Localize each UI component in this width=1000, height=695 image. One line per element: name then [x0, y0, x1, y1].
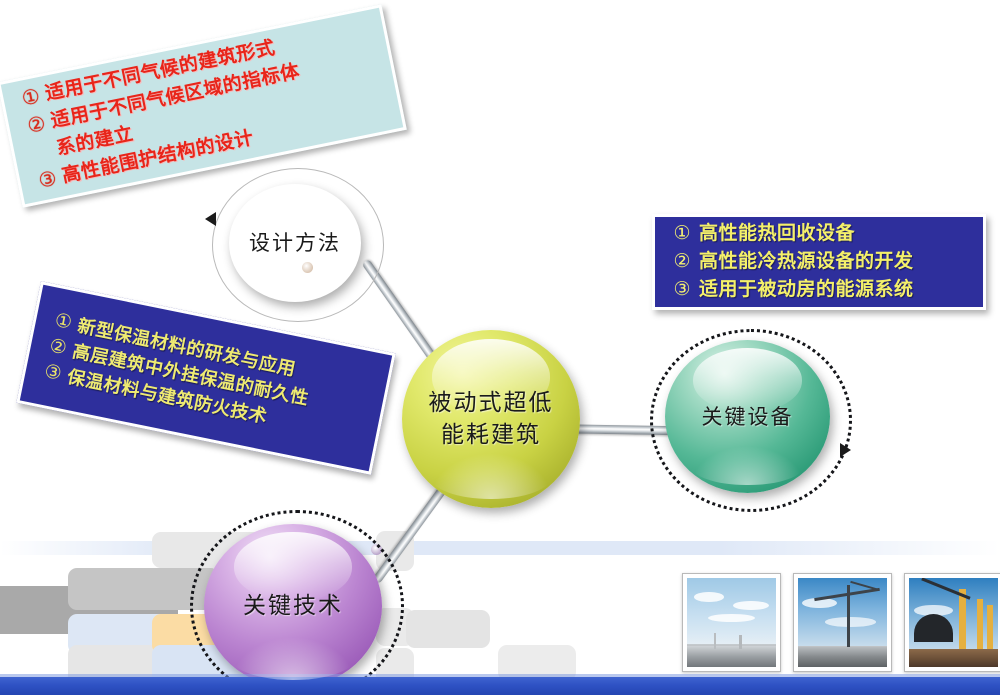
sphere-gloss	[693, 348, 802, 412]
sphere-gloss	[432, 339, 549, 414]
connector-cap	[371, 544, 382, 555]
photo-ground	[909, 649, 998, 667]
node-key-equipment-label: 关键设备	[702, 403, 794, 431]
node-center-passive-building[interactable]: 被动式超低 能耗建筑	[402, 330, 580, 508]
diagram-canvas: 设计方法 关键设备 关键技术 被动式超低 能耗建筑 ① 适用于不同气候的建筑形式…	[0, 0, 1000, 695]
node-center-label: 被动式超低 能耗建筑	[429, 387, 554, 451]
photo-crane-tower	[987, 605, 992, 655]
callout-text: 适用于被动房的能源系统	[699, 276, 914, 304]
callout-bullet: ①	[665, 220, 699, 248]
photo-cloud	[733, 601, 769, 610]
photo-ground	[687, 646, 776, 667]
photo-image	[687, 578, 776, 667]
callout-row: ① 高性能热回收设备	[665, 220, 977, 248]
node-key-technology[interactable]: 关键技术	[204, 524, 382, 688]
photo-crane-tower	[959, 589, 966, 655]
sphere-gloss-bottom	[430, 453, 551, 499]
photo-structure	[739, 635, 743, 649]
callout-row: ② 高性能冷热源设备的开发	[665, 248, 977, 276]
orbit-arrow-equipment-icon	[840, 443, 851, 457]
photo-cloud	[825, 617, 877, 627]
photo-sky	[687, 578, 776, 644]
node-center-label-line2: 能耗建筑	[429, 419, 554, 451]
bg-chip	[68, 568, 220, 610]
node-design-method[interactable]: 设计方法	[229, 184, 361, 302]
bg-chip	[406, 610, 490, 648]
photo-ground	[798, 647, 887, 667]
callout-row: ③ 适用于被动房的能源系统	[665, 276, 977, 304]
callout-key-technology[interactable]: ① 新型保温材料的研发与应用 ② 高层建筑中外挂保温的耐久性 ③ 保温材料与建筑…	[16, 281, 395, 475]
photo-construction-site-1[interactable]	[682, 573, 781, 672]
photo-image	[798, 578, 887, 667]
sphere-gloss	[251, 190, 338, 240]
node-center-label-line1: 被动式超低	[429, 387, 554, 419]
bg-band	[0, 541, 1000, 555]
photo-cloud	[708, 614, 754, 622]
node-key-technology-label: 关键技术	[243, 591, 343, 621]
bottom-bar	[0, 677, 1000, 695]
callout-text: 高性能冷热源设备的开发	[699, 248, 914, 276]
sphere-gloss	[234, 532, 351, 601]
orbit-arrow-design-icon	[205, 212, 216, 226]
node-key-equipment[interactable]: 关键设备	[665, 340, 830, 493]
photo-structure	[714, 633, 717, 649]
photo-tower-crane[interactable]	[793, 573, 892, 672]
sphere-gloss-bottom	[691, 446, 803, 486]
callout-text: 高性能热回收设备	[699, 220, 855, 248]
callout-key-equipment[interactable]: ① 高性能热回收设备 ② 高性能冷热源设备的开发 ③ 适用于被动房的能源系统	[652, 214, 986, 310]
callout-bullet: ②	[665, 248, 699, 276]
callout-bullet: ③	[665, 276, 699, 304]
sphere-gloss-bottom	[250, 265, 340, 296]
node-design-method-label: 设计方法	[249, 229, 341, 257]
photo-crane-lifting[interactable]	[904, 573, 1000, 672]
photo-crane-tower	[977, 599, 983, 654]
photo-image	[909, 578, 998, 667]
callout-design-method[interactable]: ① 适用于不同气候的建筑形式 ② 适用于不同气候区域的指标体 系的建立 ③ 高性…	[0, 4, 407, 208]
